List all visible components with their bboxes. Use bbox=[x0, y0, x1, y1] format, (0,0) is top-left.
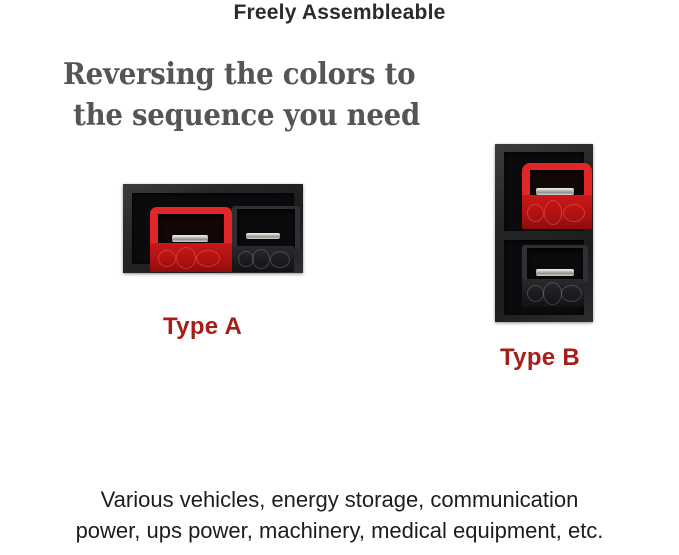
emboss-arc-icon bbox=[527, 285, 544, 302]
emboss-arc-icon bbox=[561, 285, 582, 302]
footer-line-2: power, ups power, machinery, medical equ… bbox=[0, 515, 679, 546]
headline-line-1: Reversing the colors to bbox=[63, 54, 459, 95]
product-label-type-a: Type A bbox=[163, 313, 242, 341]
emboss-arc-icon bbox=[544, 200, 562, 225]
footer-line-1: Various vehicles, energy storage, commun… bbox=[0, 484, 679, 515]
product-image-type-b bbox=[495, 144, 593, 322]
emboss-arc-icon bbox=[252, 249, 270, 269]
emboss-arc-icon bbox=[176, 247, 196, 269]
product-image-type-a bbox=[123, 184, 303, 273]
emboss-arc-icon bbox=[563, 204, 585, 222]
footer-applications-text: Various vehicles, energy storage, commun… bbox=[0, 484, 679, 546]
emboss-arc-icon bbox=[527, 204, 544, 222]
type-b-red-contact-pin bbox=[536, 188, 574, 195]
headline-line-2: the sequence you need bbox=[63, 95, 459, 136]
type-b-red-connector-face bbox=[522, 195, 592, 229]
type-b-black-connector-face bbox=[522, 279, 584, 307]
type-b-top-housing-cavity bbox=[504, 152, 584, 231]
type-b-black-connector-shroud bbox=[522, 245, 588, 282]
type-a-black-connector-face bbox=[232, 246, 294, 272]
type-a-black-contact-pin bbox=[246, 233, 280, 239]
type-a-black-connector-shroud bbox=[232, 206, 300, 249]
emboss-arc-icon bbox=[543, 282, 562, 305]
type-b-bottom-housing-cavity bbox=[504, 240, 584, 315]
headline: Reversing the colors to the sequence you… bbox=[63, 54, 459, 136]
emboss-arc-icon bbox=[196, 250, 220, 267]
type-a-housing-cavity bbox=[132, 193, 294, 264]
page-title: Freely Assembleable bbox=[0, 1, 679, 25]
type-b-black-contact-pin bbox=[536, 269, 574, 276]
emboss-arc-icon bbox=[270, 251, 290, 268]
emboss-arc-icon bbox=[158, 250, 176, 267]
product-label-type-b: Type B bbox=[500, 344, 580, 372]
type-a-red-contact-pin bbox=[172, 235, 208, 242]
type-a-red-connector-face bbox=[150, 243, 232, 272]
